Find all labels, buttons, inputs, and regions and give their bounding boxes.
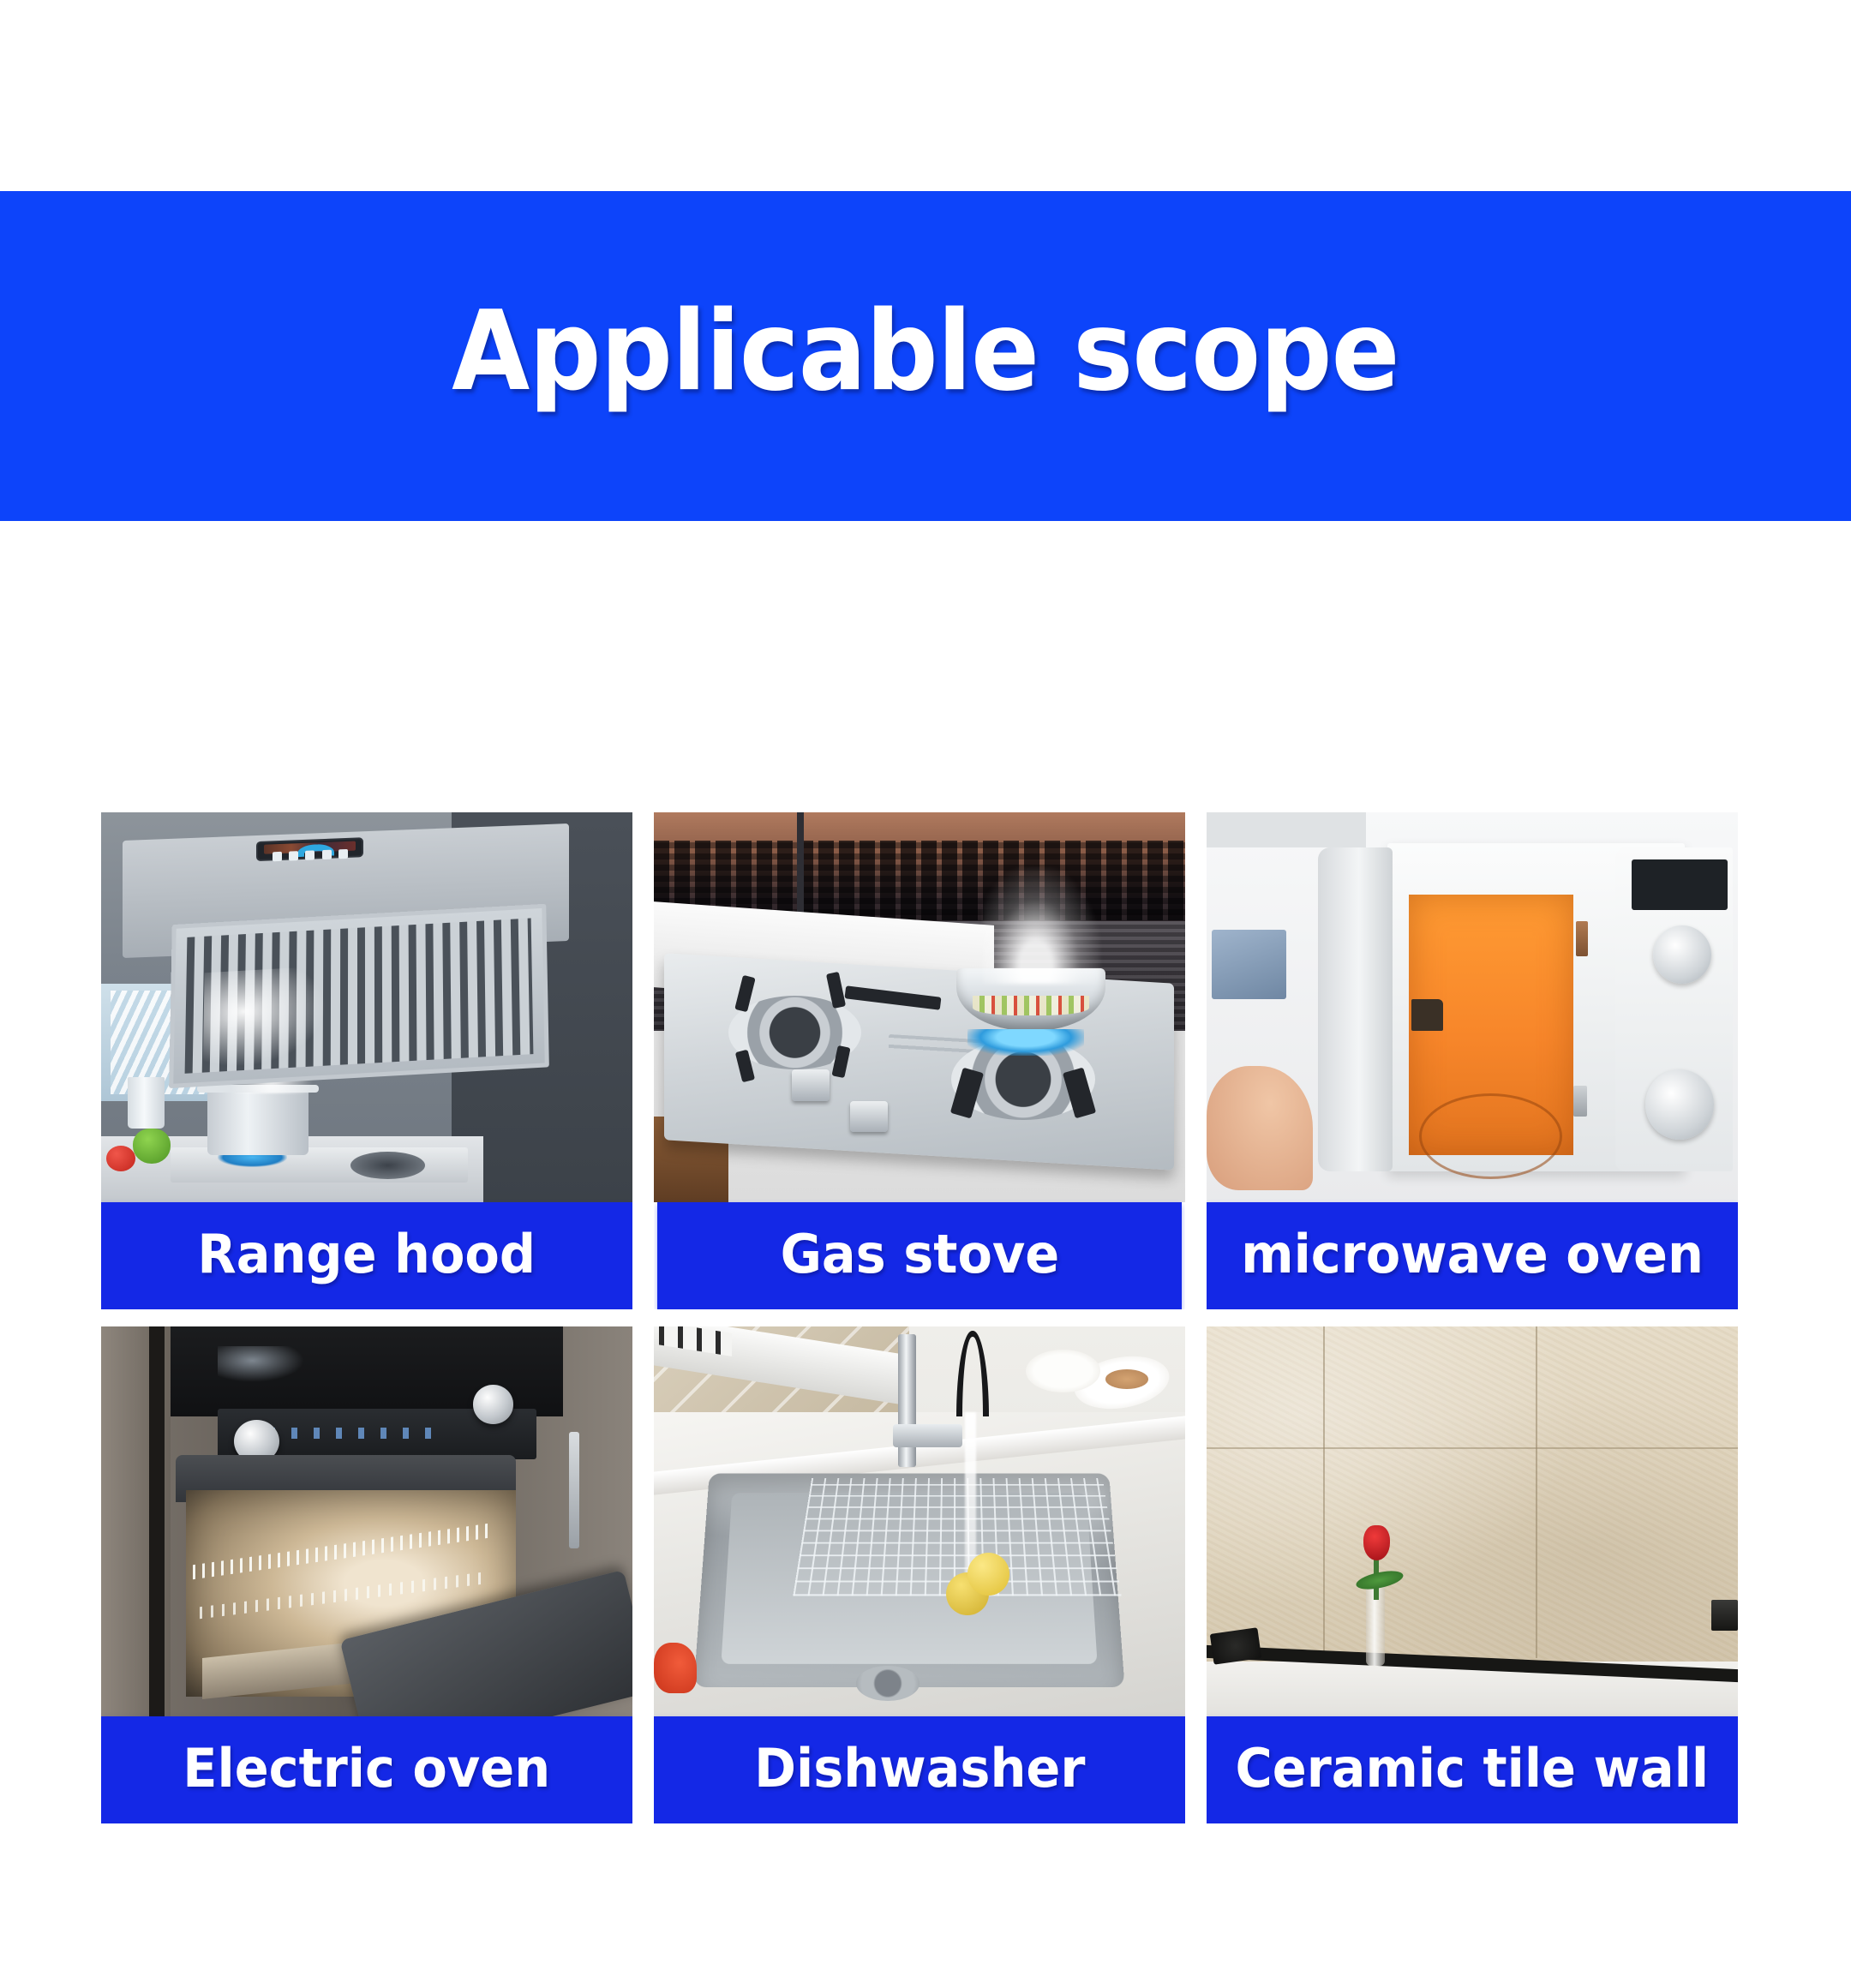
- card-dishwasher[interactable]: Dishwasher: [654, 1326, 1185, 1823]
- range-hood-photo: [101, 812, 632, 1202]
- electric-oven-photo: [101, 1326, 632, 1716]
- header-banner: Applicable scope: [0, 191, 1851, 521]
- gas-stove-photo: [654, 812, 1185, 1202]
- card-label-dishwasher: Dishwasher: [754, 1742, 1085, 1799]
- label-band-ceramic-tile-wall: Ceramic tile wall: [1207, 1716, 1738, 1823]
- label-band-dishwasher: Dishwasher: [654, 1716, 1185, 1823]
- dishwasher-photo: [654, 1326, 1185, 1716]
- card-label-gas-stove: Gas stove: [780, 1228, 1059, 1284]
- card-electric-oven[interactable]: Electric oven: [101, 1326, 632, 1823]
- infographic-page: Applicable scope: [0, 0, 1851, 1988]
- microwave-oven-photo: [1207, 812, 1738, 1202]
- card-range-hood[interactable]: Range hood: [101, 812, 632, 1309]
- page-title: Applicable scope: [452, 297, 1399, 416]
- card-microwave-oven[interactable]: microwave oven: [1207, 812, 1738, 1309]
- card-label-ceramic-tile-wall: Ceramic tile wall: [1236, 1742, 1709, 1799]
- card-gas-stove[interactable]: Gas stove: [654, 812, 1185, 1309]
- label-band-range-hood: Range hood: [101, 1202, 632, 1309]
- card-label-electric-oven: Electric oven: [183, 1742, 551, 1799]
- ceramic-tile-wall-photo: [1207, 1326, 1738, 1716]
- label-band-gas-stove: Gas stove: [657, 1202, 1182, 1309]
- card-ceramic-tile-wall[interactable]: Ceramic tile wall: [1207, 1326, 1738, 1823]
- applicable-scope-grid: Range hood: [101, 812, 1746, 1823]
- card-label-microwave-oven: microwave oven: [1241, 1228, 1704, 1284]
- label-band-electric-oven: Electric oven: [101, 1716, 632, 1823]
- label-band-microwave-oven: microwave oven: [1207, 1202, 1738, 1309]
- card-label-range-hood: Range hood: [198, 1228, 536, 1284]
